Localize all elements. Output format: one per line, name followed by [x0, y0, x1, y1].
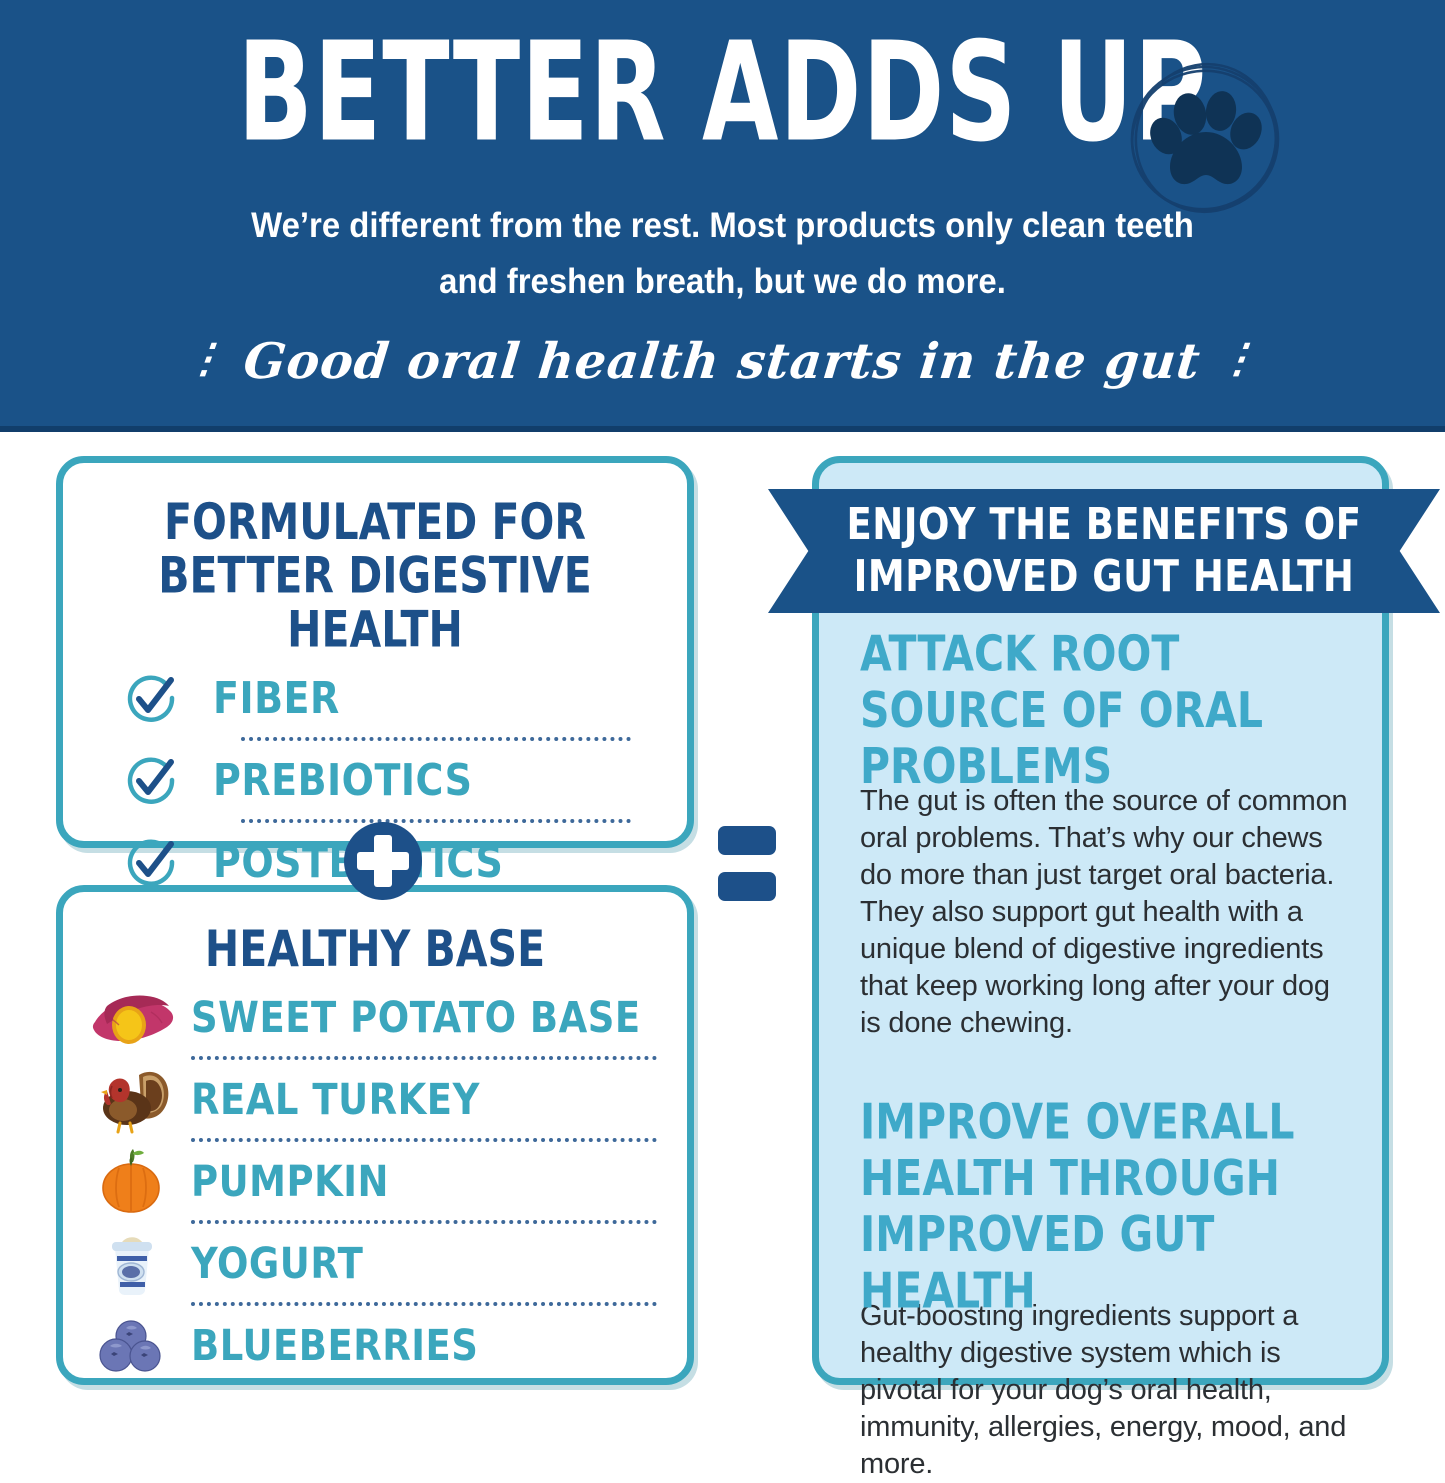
header-script-text: Good oral health starts in the gut: [241, 332, 1203, 390]
turkey-icon: [85, 1064, 177, 1134]
header-subtitle-line1: We’re different from the rest. Most prod…: [43, 198, 1401, 254]
divider: [241, 819, 631, 823]
check-circle-icon: [123, 752, 179, 808]
divider: [191, 1302, 657, 1306]
pumpkin-icon: [85, 1146, 177, 1216]
equals-bar-top: [718, 826, 776, 855]
script-mark-right-icon: ⋮: [1217, 335, 1263, 382]
list-item-label: SWEET POTATO BASE: [191, 992, 641, 1041]
header-script-tagline: ⋮ Good oral health starts in the gut ⋮: [182, 332, 1263, 390]
header-script-row: ⋮ Good oral health starts in the gut ⋮: [0, 310, 1445, 390]
list-item-label: BLUEBERRIES: [191, 1320, 478, 1369]
healthy-base-card-title: HEALTHY BASE: [89, 922, 661, 976]
ribbon-title-line2: IMPROVED GUT HEALTH: [847, 551, 1362, 603]
divider: [191, 1138, 657, 1142]
list-item: YOGURT: [85, 1226, 663, 1300]
plus-circle-icon: [344, 822, 422, 900]
equals-sign-icon: [718, 826, 776, 912]
header-subtitle: We’re different from the rest. Most prod…: [43, 198, 1401, 310]
benefits-content: ATTACK ROOT SOURCE OF ORAL PROBLEMS The …: [824, 626, 1380, 1483]
divider: [241, 737, 631, 741]
divider: [191, 1220, 657, 1224]
header-subtitle-line2: and freshen breath, but we do more.: [43, 254, 1401, 310]
list-item: PUMPKIN: [85, 1144, 663, 1218]
page-header: BETTER ADDS UP We’re different from the …: [0, 0, 1445, 432]
list-item: SWEET POTATO BASE: [85, 980, 663, 1054]
sweet-potato-icon: [85, 982, 177, 1052]
ribbon-title-line1: ENJOY THE BENEFITS OF: [847, 499, 1362, 551]
benefit-block-title: ATTACK ROOT SOURCE OF ORAL PROBLEMS: [860, 626, 1348, 795]
benefits-ribbon-title: ENJOY THE BENEFITS OF IMPROVED GUT HEALT…: [847, 499, 1362, 603]
page-title: BETTER ADDS UP: [238, 21, 1208, 164]
benefit-block: ATTACK ROOT SOURCE OF ORAL PROBLEMS The …: [860, 626, 1348, 1042]
healthy-base-card: HEALTHY BASE SWEET POTATO BASE: [56, 885, 694, 1385]
benefit-block-title: IMPROVE OVERALL HEALTH THROUGH IMPROVED …: [860, 1094, 1348, 1320]
check-circle-icon: [123, 834, 179, 890]
divider: [191, 1056, 657, 1060]
list-item: BLUEBERRIES: [85, 1308, 663, 1382]
hero-title-row: BETTER ADDS UP: [0, 0, 1445, 170]
benefit-block-body: The gut is often the source of common or…: [860, 783, 1348, 1042]
list-item-label: PREBIOTICS: [213, 755, 473, 806]
ingredient-list: SWEET POTATO BASE REAL T: [63, 980, 687, 1382]
equals-bar-bottom: [718, 872, 776, 901]
list-item: REAL TURKEY: [85, 1062, 663, 1136]
benefits-ribbon-banner: ENJOY THE BENEFITS OF IMPROVED GUT HEALT…: [768, 489, 1440, 613]
list-item-label: PUMPKIN: [191, 1156, 389, 1205]
list-item-label: REAL TURKEY: [191, 1074, 480, 1123]
spacer: [860, 1042, 1348, 1094]
check-circle-icon: [123, 670, 179, 726]
yogurt-cup-icon: [85, 1228, 177, 1298]
blueberries-icon: [85, 1310, 177, 1380]
list-item-label: FIBER: [213, 673, 340, 724]
list-item: FIBER: [123, 665, 657, 731]
list-item-label: YOGURT: [191, 1238, 363, 1287]
formulated-card-title: FORMULATED FOR BETTER DIGESTIVE HEALTH: [89, 495, 661, 656]
benefit-block: IMPROVE OVERALL HEALTH THROUGH IMPROVED …: [860, 1094, 1348, 1483]
formulated-card: FORMULATED FOR BETTER DIGESTIVE HEALTH F…: [56, 456, 694, 848]
list-item: PREBIOTICS: [123, 747, 657, 813]
script-mark-left-icon: ⋮: [183, 335, 229, 382]
benefit-block-body: Gut-boosting ingredients support a healt…: [860, 1298, 1348, 1483]
